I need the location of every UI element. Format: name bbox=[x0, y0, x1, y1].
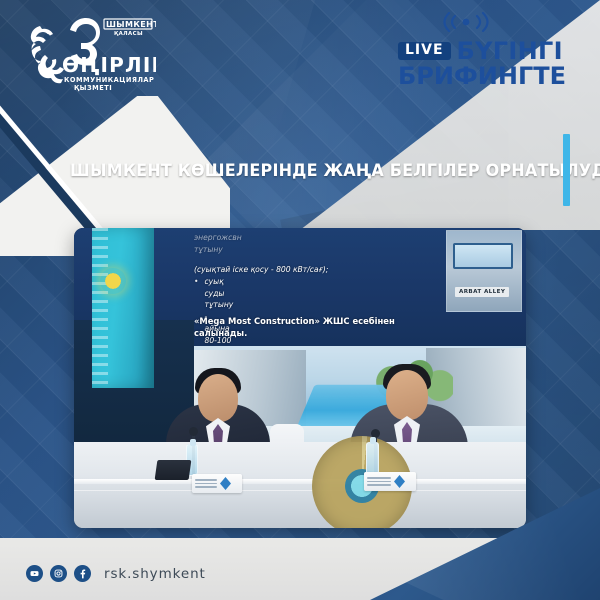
slide-bullet-paren: (суықтай іске қосу - 800 кВт/сағ); bbox=[194, 264, 444, 276]
slide-strong-line-2: салынады. bbox=[194, 327, 444, 339]
nameplate-right bbox=[364, 472, 416, 491]
nameplate-left bbox=[192, 474, 242, 493]
laptop-device bbox=[155, 460, 192, 480]
social-handle[interactable]: rsk.shymkent bbox=[104, 566, 206, 582]
slide-bullet-faded: энергожсвн тұтыну bbox=[194, 232, 206, 264]
slide-bullet-dot: • bbox=[194, 276, 198, 310]
svg-text:ӨҢІРЛІК: ӨҢІРЛІК bbox=[62, 53, 156, 77]
live-line-2: БРИФИНГТЕ bbox=[398, 64, 578, 90]
live-pill-label: LIVE bbox=[398, 42, 451, 60]
instagram-icon[interactable] bbox=[50, 565, 67, 582]
headline-accent-bar bbox=[563, 134, 570, 206]
svg-text:ҚЫЗМЕТІ: ҚЫЗМЕТІ bbox=[74, 84, 112, 92]
broadcast-signal-icon bbox=[440, 12, 578, 37]
live-briefing-badge: LIVE БҮГІНГІ БРИФИНГТЕ bbox=[398, 12, 578, 90]
slide-text-block: энергожсвн тұтыну (суықтай іске қосу - 8… bbox=[194, 232, 444, 339]
facebook-icon[interactable] bbox=[74, 565, 91, 582]
presenter-right-head bbox=[386, 370, 428, 420]
youtube-icon[interactable] bbox=[26, 565, 43, 582]
nameplate-diamond-icon bbox=[394, 475, 405, 488]
slide-inset-photo: ARBAT ALLEY bbox=[446, 230, 522, 312]
presenter-left-head bbox=[198, 374, 238, 422]
nameplate-diamond-icon bbox=[220, 477, 231, 490]
footer-band: rsk.shymkent bbox=[0, 538, 600, 600]
briefing-photo: энергожсвн тұтыну (суықтай іске қосу - 8… bbox=[74, 228, 526, 528]
kazakhstan-flag bbox=[92, 228, 154, 388]
page-title: ШЫМКЕНТ КӨШЕЛЕРІНДЕ ЖАҢА БЕЛГІЛЕР ОРНАТЫ… bbox=[70, 161, 600, 180]
svg-text:ШЫМКЕНТ: ШЫМКЕНТ bbox=[106, 20, 156, 29]
slide-bullet-2: суық суды тұтыну - айына 80-100 м3. bbox=[204, 276, 233, 310]
arbat-alley-label: ARBAT ALLEY bbox=[455, 287, 509, 297]
desk-front-panel bbox=[74, 490, 526, 528]
social-links: rsk.shymkent bbox=[26, 565, 206, 582]
street-sign-board bbox=[453, 243, 513, 269]
svg-text:ҚАЛАСЫ: ҚАЛАСЫ bbox=[114, 31, 143, 37]
live-line-1: БҮГІНГІ bbox=[457, 39, 563, 63]
slide-strong-line-1: «Mega Most Construction» ЖШС есебінен bbox=[194, 315, 444, 327]
organization-logo[interactable]: ӨҢІРЛІК ШЫМКЕНТ ҚАЛАСЫ КОММУНИКАЦИЯЛАР Қ… bbox=[16, 8, 156, 94]
desk-edge bbox=[74, 479, 526, 484]
headline-bar: ШЫМКЕНТ КӨШЕЛЕРІНДЕ ЖАҢА БЕЛГІЛЕР ОРНАТЫ… bbox=[0, 148, 600, 192]
poster-canvas: ӨҢІРЛІК ШЫМКЕНТ ҚАЛАСЫ КОММУНИКАЦИЯЛАР Қ… bbox=[0, 0, 600, 600]
svg-text:КОММУНИКАЦИЯЛАР: КОММУНИКАЦИЯЛАР bbox=[64, 76, 154, 84]
flag-ornament bbox=[92, 228, 108, 388]
water-bottle-right bbox=[366, 442, 379, 476]
